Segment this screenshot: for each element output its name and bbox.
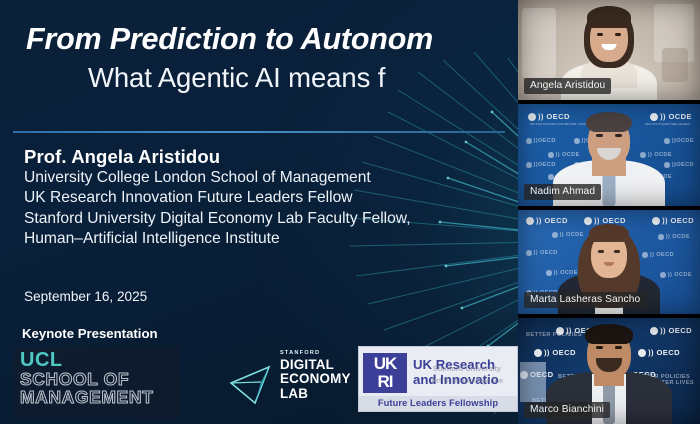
stanford-logo-line-3: LAB [280,387,351,401]
presenter-block: Prof. Angela Aristidou University Colleg… [24,146,411,249]
slide-title-line-1: From Prediction to Autonom [26,22,518,56]
ukri-monogram-icon: UK RI [363,353,407,393]
shared-presentation-slide: From Prediction to Autonom What Agentic … [0,0,518,424]
stanford-eyebrow: STANFORD [280,350,320,356]
stanford-triangle-icon [228,362,274,406]
title-divider-rule [13,131,505,133]
presenter-affiliation-1: University College London School of Mana… [24,168,411,188]
participant-video-rail[interactable]: Angela Aristidou )) OECD BETTER POLICIES… [518,0,700,424]
participant-name-label: Marco Bianchini [524,402,610,418]
presenter-affiliation-2: UK Research Innovation Future Leaders Fe… [24,188,411,208]
ukri-name-line-1: UK Research [413,358,499,372]
video-call-screen: From Prediction to Autonom What Agentic … [0,0,700,424]
participant-name-label: Angela Aristidou [524,78,611,94]
sponsor-logo-row: UCL SCHOOL OF MANAGEMENT STANFORD DIGITA… [0,344,518,424]
participant-name-label: Nadim Ahmad [524,184,601,200]
participant-name-label: Marta Lasheras Sancho [524,292,646,308]
presenter-affiliation-4: Human–Artificial Intelligence Institute [24,229,411,249]
slide-title-block: From Prediction to Autonom What Agentic … [26,22,518,94]
presenter-name: Prof. Angela Aristidou [24,146,411,168]
stanford-logo-line-1: DIGITAL [280,358,351,372]
presenter-affiliation-3: Stanford University Digital Economy Lab … [24,209,411,229]
stanford-logo-line-2: ECONOMY [280,372,351,386]
ukri-mark-line-2: RI [363,373,407,391]
ukri-future-leaders-fellowship-logo: UK RI UK Research and Innovatio Stanford… [358,346,518,412]
ukri-mark-line-1: UK [363,355,407,373]
ucl-logo-line-2: SCHOOL OF [20,370,174,388]
presentation-date: September 16, 2025 [24,289,147,304]
ukri-name-line-2: and Innovatio [413,373,499,387]
participant-tile-nadim-ahmad[interactable]: )) OECD BETTER POLICIES FOR BETTER LIVES… [518,104,700,206]
slide-title-line-2: What Agentic AI means f [88,62,518,94]
session-type-label: Keynote Presentation [22,326,158,341]
ukri-strapline: Future Leaders Fellowship [359,396,517,411]
stanford-digital-economy-lab-logo: STANFORD DIGITAL ECONOMY LAB [228,350,350,408]
participant-tile-marco-bianchini[interactable]: )) OECD )) OECD BETTER POLICIES )) OECD … [518,318,700,424]
ucl-logo-line-1: UCL [20,350,174,370]
participant-tile-angela-aristidou[interactable]: Angela Aristidou [518,0,700,100]
ucl-logo-line-3: MANAGEMENT [20,388,174,406]
participant-tile-marta-lasheras-sancho[interactable]: )) OECD )) OECD )) OECD )) OCDE )) OCDE … [518,210,700,314]
ucl-school-of-management-logo: UCL SCHOOL OF MANAGEMENT [14,346,180,418]
